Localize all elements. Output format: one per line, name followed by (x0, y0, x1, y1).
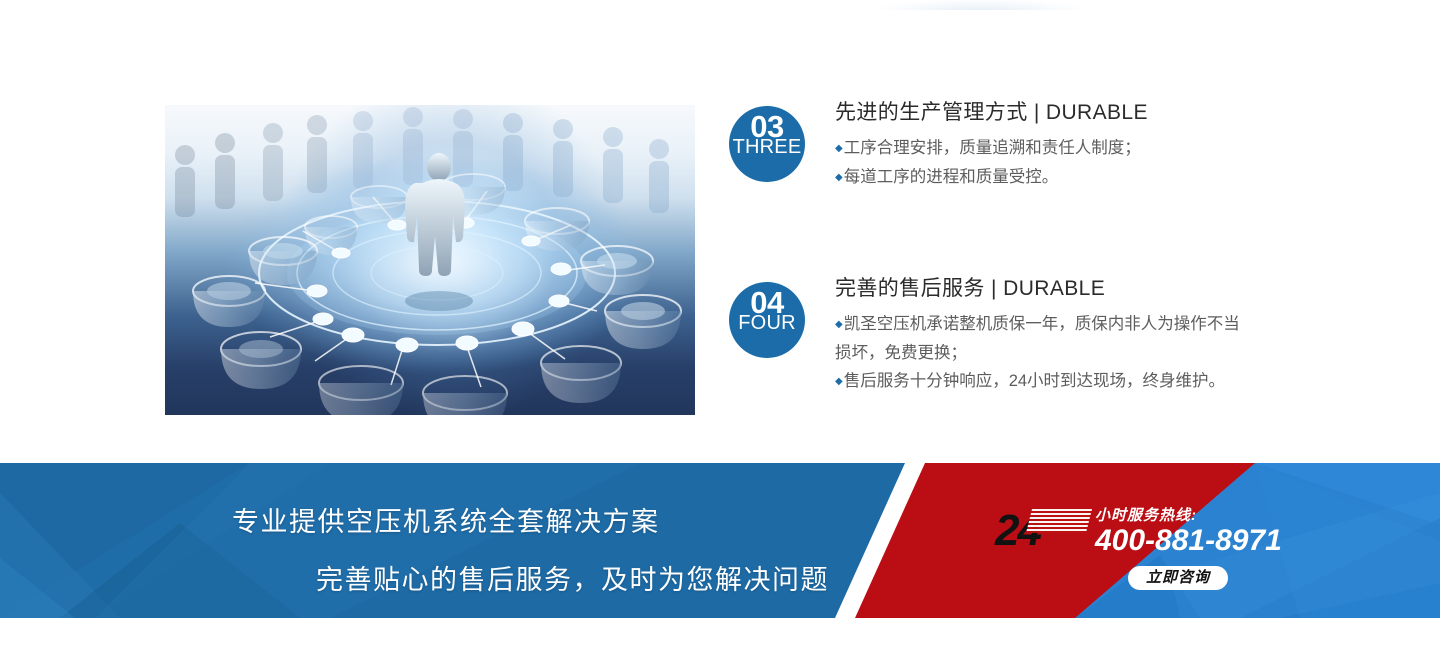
feature-bullet-list: ◆工序合理安排，质量追溯和责任人制度； ◆每道工序的进程和质量受控。 (835, 134, 1255, 192)
hotline-block: 24 小时服务热线: 400-881-8971 (995, 501, 1295, 611)
banner-slogans: 专业提供空压机系统全套解决方案 完善贴心的售后服务，及时为您解决问题 (0, 463, 930, 618)
banner-slogan-line-2: 完善贴心的售后服务，及时为您解决问题 (316, 558, 829, 597)
diamond-bullet-icon: ◆ (835, 319, 843, 330)
feature-word: THREE (729, 136, 805, 158)
feature-block-03: 03 THREE 先进的生产管理方式 | DURABLE ◆工序合理安排，质量追… (729, 106, 1249, 206)
page-root: 03 THREE 先进的生产管理方式 | DURABLE ◆工序合理安排，质量追… (0, 0, 1440, 663)
diamond-bullet-icon: ◆ (835, 172, 843, 183)
feature-bullet: ◆售后服务十分钟响应，24小时到达现场，终身维护。 (835, 367, 1255, 396)
feature-title: 完善的售后服务 | DURABLE (835, 274, 1255, 304)
feature-badge-04: 04 FOUR (729, 282, 805, 358)
top-image-remnant (880, 0, 1080, 10)
feature-word: FOUR (729, 312, 805, 334)
feature-text-04: 完善的售后服务 | DURABLE ◆凯圣空压机承诺整机质保一年，质保内非人为操… (835, 274, 1255, 396)
feature-bullet: ◆凯圣空压机承诺整机质保一年，质保内非人为操作不当损坏，免费更换； (835, 310, 1255, 367)
diamond-bullet-icon: ◆ (835, 143, 843, 154)
feature-text-03: 先进的生产管理方式 | DURABLE ◆工序合理安排，质量追溯和责任人制度； … (835, 98, 1255, 192)
speed-lines-decoration (1026, 509, 1092, 533)
feature-bullet-text: 每道工序的进程和质量受控。 (844, 168, 1059, 186)
feature-bullet: ◆工序合理安排，质量追溯和责任人制度； (835, 134, 1255, 163)
banner-slogan-line-1: 专业提供空压机系统全套解决方案 (232, 500, 660, 539)
network-hub-illustration (165, 105, 695, 415)
hotline-number: 400-881-8971 (1095, 523, 1282, 559)
feature-title: 先进的生产管理方式 | DURABLE (835, 98, 1255, 128)
feature-bullet-text: 售后服务十分钟响应，24小时到达现场，终身维护。 (844, 372, 1225, 390)
feature-badge-03: 03 THREE (729, 106, 805, 182)
feature-block-04: 04 FOUR 完善的售后服务 | DURABLE ◆凯圣空压机承诺整机质保一年… (729, 282, 1249, 412)
hotline-label: 小时服务热线: (1095, 504, 1197, 525)
consult-now-button[interactable]: 立即咨询 (1128, 566, 1228, 590)
feature-bullet-text: 凯圣空压机承诺整机质保一年，质保内非人为操作不当损坏，免费更换； (835, 315, 1240, 362)
feature-bullet-text: 工序合理安排，质量追溯和责任人制度； (844, 139, 1141, 157)
feature-bullet-list: ◆凯圣空压机承诺整机质保一年，质保内非人为操作不当损坏，免费更换； ◆售后服务十… (835, 310, 1255, 396)
promo-banner: 专业提供空压机系统全套解决方案 完善贴心的售后服务，及时为您解决问题 24 小时… (0, 463, 1440, 618)
diamond-bullet-icon: ◆ (835, 376, 843, 387)
feature-bullet: ◆每道工序的进程和质量受控。 (835, 163, 1255, 192)
